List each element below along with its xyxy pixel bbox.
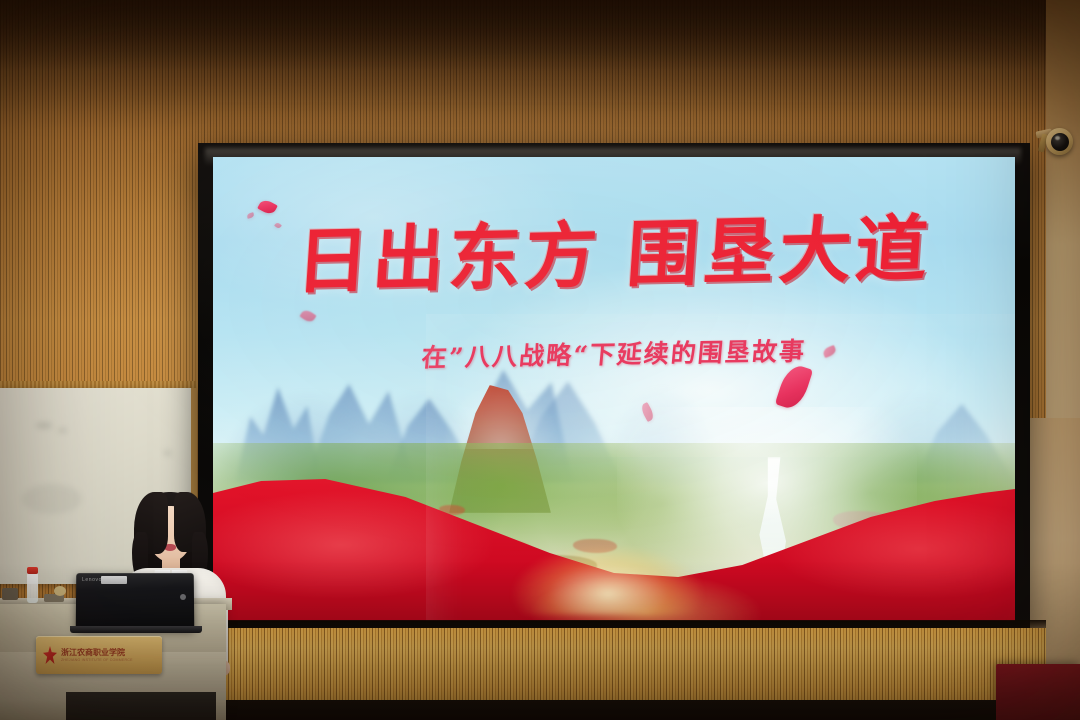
slide-title: 日出东方围垦大道 bbox=[213, 211, 1015, 300]
laptop-hinge-dot bbox=[180, 594, 186, 600]
lecture-hall-scene: 日出东方围垦大道 在”八八战略“下延续的围垦故事 bbox=[0, 0, 1080, 720]
podium-base bbox=[66, 692, 216, 720]
wall-top-shadow bbox=[0, 0, 1080, 70]
plaque-institution-subtitle: ZHEJIANG INSTITUTE OF COMMERCE bbox=[61, 658, 133, 662]
laptop-brand-label: Lenovo bbox=[82, 577, 102, 583]
slide-ribbon-glow bbox=[513, 545, 703, 615]
desk-item bbox=[2, 588, 18, 600]
red-draped-table bbox=[996, 664, 1080, 720]
camera-lens bbox=[1051, 133, 1069, 151]
plaque-institution-name: 浙江农商职业学院 bbox=[61, 648, 133, 657]
projection-screen-display[interactable]: 日出东方围垦大道 在”八八战略“下延续的围垦故事 bbox=[213, 157, 1015, 621]
podium-plaque: 浙江农商职业学院 ZHEJIANG INSTITUTE OF COMMERCE bbox=[36, 636, 162, 674]
floor-band bbox=[226, 700, 996, 720]
desk-item bbox=[54, 586, 66, 596]
water-bottle-cap bbox=[27, 567, 38, 574]
water-bottle bbox=[27, 573, 38, 603]
camera-lens-glint bbox=[1055, 136, 1060, 140]
laptop-base bbox=[70, 626, 202, 633]
institution-logo-icon bbox=[43, 646, 57, 664]
security-camera-icon bbox=[1034, 118, 1074, 162]
slide-karst-haze bbox=[441, 379, 561, 449]
laptop-sticker bbox=[101, 576, 127, 584]
